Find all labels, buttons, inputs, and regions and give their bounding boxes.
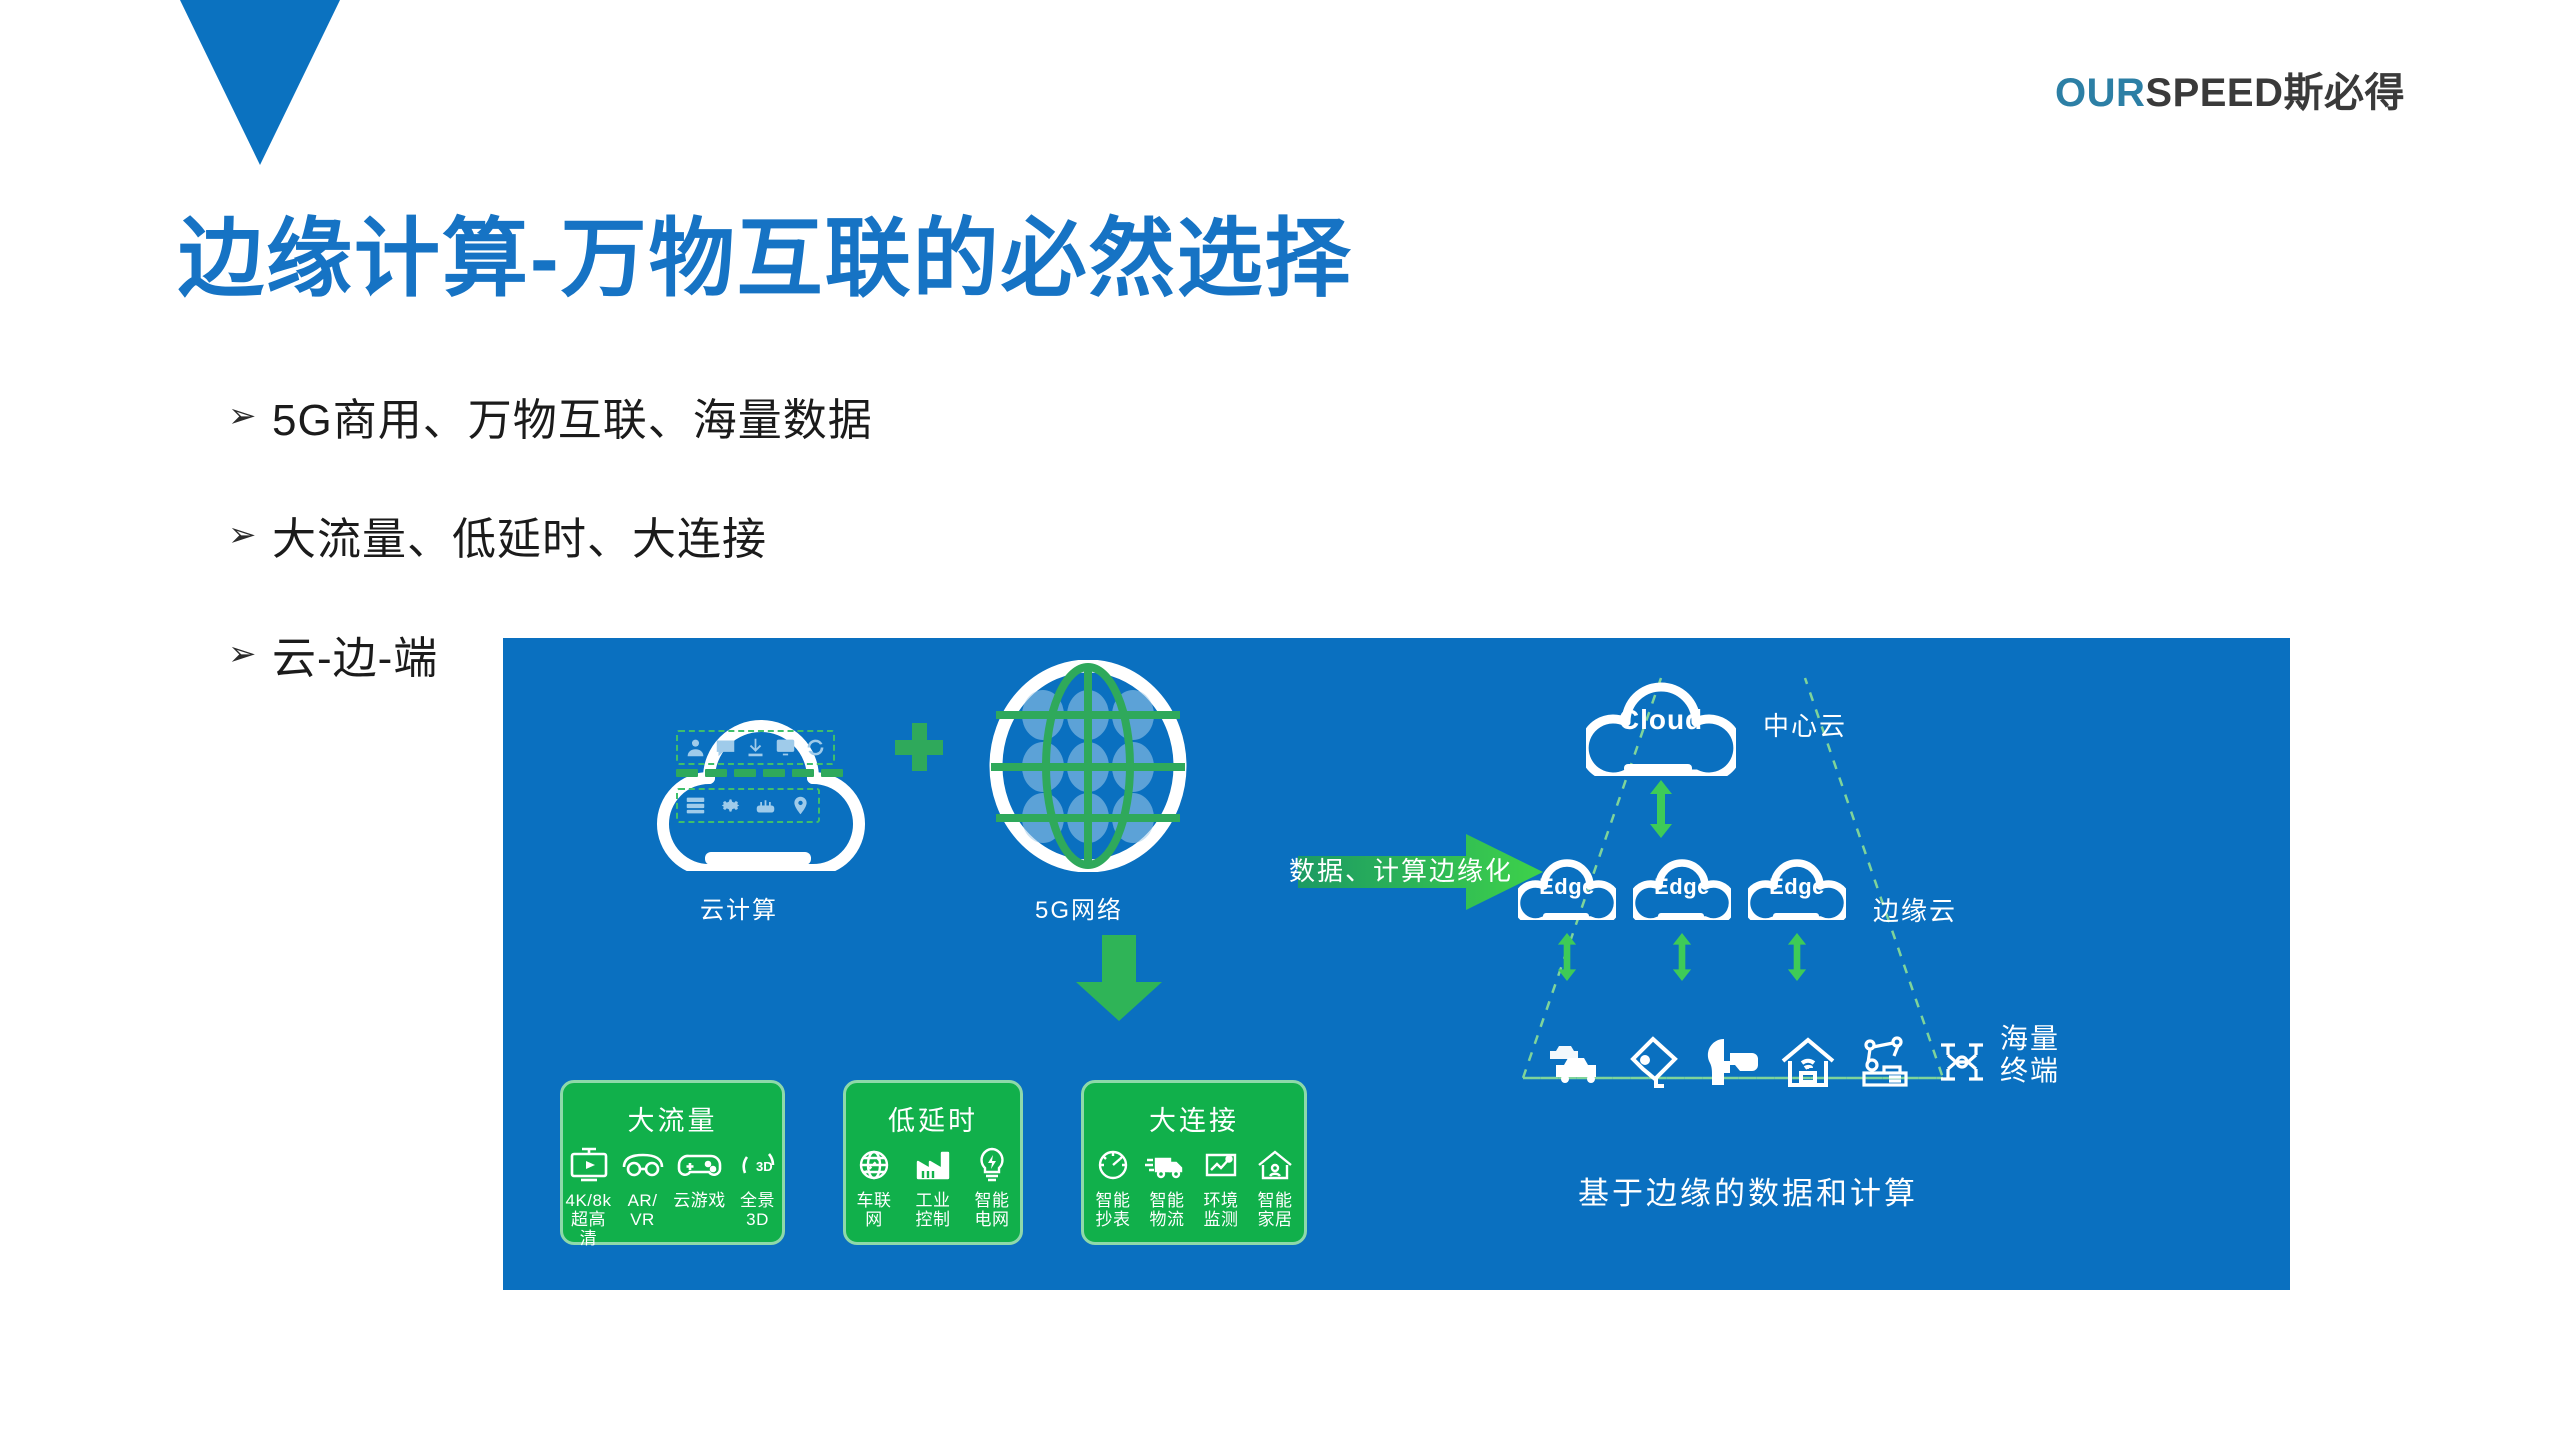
card-title: 大流量 xyxy=(563,1099,782,1138)
card-item: 智能 物流 xyxy=(1142,1145,1192,1229)
gamepad-icon xyxy=(677,1145,723,1185)
logo-rest-text: SPEED斯必得 xyxy=(2145,71,2405,115)
corner-triangle-decoration xyxy=(180,0,340,165)
svg-text:3D: 3D xyxy=(756,1159,773,1174)
down-arrow-icon xyxy=(1076,935,1162,1021)
router-icon xyxy=(755,795,776,816)
cloud-computing-label: 云计算 xyxy=(700,890,778,925)
central-cloud-node: Cloud xyxy=(1586,660,1736,776)
card-item-label: 云游戏 xyxy=(672,1191,728,1210)
meter-icon xyxy=(1090,1145,1136,1185)
bullet-text: 5G商用、万物互联、海量数据 xyxy=(272,384,873,448)
terminal-icon-cars xyxy=(1546,1033,1608,1091)
truck-icon xyxy=(1144,1145,1190,1185)
chat-icon xyxy=(715,737,736,758)
edge-node-text: Edge xyxy=(1748,874,1846,900)
card-item: 工业 控制 xyxy=(908,1145,958,1229)
card-item: 环境 监测 xyxy=(1196,1145,1246,1229)
card-item-label: 4K/8k 超高清 xyxy=(564,1191,614,1248)
vr-glasses-icon xyxy=(620,1145,666,1185)
card-items: 车联网 工业 控制 智能 电网 xyxy=(846,1145,1020,1229)
card-item-label: 全景 3D xyxy=(734,1191,782,1229)
card-item-label: 工业 控制 xyxy=(908,1191,958,1229)
cloud-service-icons-row-2 xyxy=(676,788,820,823)
card-item: 智能 电网 xyxy=(967,1145,1017,1229)
gear-icon xyxy=(720,795,741,816)
terminal-icon-drone xyxy=(1931,1033,1993,1091)
card-item-label: AR/ VR xyxy=(620,1191,666,1229)
terminal-icon-robot-arm xyxy=(1854,1033,1916,1091)
brand-logo: OURSPEED斯必得 xyxy=(2055,60,2405,118)
edge-node-1: Edge xyxy=(1518,844,1616,920)
edge-node-2: Edge xyxy=(1633,844,1731,920)
card-title: 低延时 xyxy=(846,1099,1020,1138)
connected-car-icon xyxy=(851,1145,897,1185)
panorama-3d-icon: 3D xyxy=(735,1145,781,1185)
diagram-footnote: 基于边缘的数据和计算 xyxy=(1498,1168,1998,1213)
location-pin-icon xyxy=(790,795,811,816)
list-item: ➢ 大流量、低延时、大连接 xyxy=(228,504,873,566)
card-item-label: 车联网 xyxy=(849,1191,899,1229)
terminal-label: 海量 终端 xyxy=(2000,1023,2060,1087)
5g-network-globe-icon xyxy=(983,660,1193,872)
5g-network-label: 5G网络 xyxy=(1035,890,1123,925)
edge-node-text: Edge xyxy=(1633,874,1731,900)
monitor-chart-icon xyxy=(1198,1145,1244,1185)
card-item-label: 智能 物流 xyxy=(1142,1191,1192,1229)
factory-icon xyxy=(910,1145,956,1185)
central-cloud-label: 中心云 xyxy=(1763,706,1847,743)
edge-terminal-link-arrow-3 xyxy=(1784,933,1810,981)
server-icon xyxy=(685,795,706,816)
edge-migration-label: 数据、计算边缘化 xyxy=(1289,851,1513,888)
feature-card-low-latency: 低延时 车联网 工业 控制 智能 xyxy=(843,1080,1023,1245)
card-item: 云游戏 xyxy=(672,1145,728,1248)
smart-grid-icon xyxy=(969,1145,1015,1185)
card-item-label: 智能 家居 xyxy=(1250,1191,1300,1229)
card-item-label: 智能 抄表 xyxy=(1088,1191,1138,1229)
card-item: 智能 抄表 xyxy=(1088,1145,1138,1229)
edge-node-text: Edge xyxy=(1518,874,1616,900)
cloud-edge-link-arrow-icon xyxy=(1648,780,1674,838)
card-item: 4K/8k 超高清 xyxy=(564,1145,614,1248)
card-item: 车联网 xyxy=(849,1145,899,1229)
cloud-divider-dashes xyxy=(676,769,843,777)
tv-icon xyxy=(566,1145,612,1185)
card-item: 3D 全景 3D xyxy=(734,1145,782,1248)
feature-card-massive-connection: 大连接 智能 抄表 智能 物流 环境 监测 xyxy=(1081,1080,1307,1245)
cloud-service-icons-row-1 xyxy=(676,730,835,765)
download-icon xyxy=(745,737,766,758)
monitor-icon xyxy=(775,737,796,758)
plus-icon xyxy=(895,723,943,771)
card-items: 智能 抄表 智能 物流 环境 监测 智能 家居 xyxy=(1084,1145,1304,1229)
bullet-arrow-icon: ➢ xyxy=(228,518,272,552)
list-item: ➢ 5G商用、万物互联、海量数据 xyxy=(228,385,873,447)
central-cloud-text: Cloud xyxy=(1586,704,1736,736)
bullet-arrow-icon: ➢ xyxy=(228,637,272,671)
bullet-arrow-icon: ➢ xyxy=(228,399,272,433)
logo-accent-text: OUR xyxy=(2055,71,2145,115)
bullet-text: 大流量、低延时、大连接 xyxy=(272,503,767,567)
card-item-label: 智能 电网 xyxy=(967,1191,1017,1229)
card-item: AR/ VR xyxy=(620,1145,666,1248)
edge-cloud-label: 边缘云 xyxy=(1873,891,1957,928)
smart-home-icon xyxy=(1252,1145,1298,1185)
card-item: 智能 家居 xyxy=(1250,1145,1300,1229)
bullet-text: 云-边-端 xyxy=(272,622,438,686)
edge-terminal-link-arrow-2 xyxy=(1669,933,1695,981)
card-item-label: 环境 监测 xyxy=(1196,1191,1246,1229)
edge-computing-diagram: 云计算 5G网络 数据、 xyxy=(503,638,2290,1290)
sync-icon xyxy=(805,737,826,758)
terminal-icon-surveillance-camera xyxy=(1623,1033,1685,1091)
user-icon xyxy=(685,737,706,758)
page-title: 边缘计算-万物互联的必然选择 xyxy=(178,188,1353,313)
edge-node-3: Edge xyxy=(1748,844,1846,920)
card-title: 大连接 xyxy=(1084,1099,1304,1138)
terminal-icon-smart-home xyxy=(1777,1033,1839,1091)
terminal-icon-vr-headset xyxy=(1700,1033,1762,1091)
edge-terminal-link-arrow-1 xyxy=(1554,933,1580,981)
card-items: 4K/8k 超高清 AR/ VR 云游戏 3D 全景 xyxy=(563,1145,782,1248)
feature-card-big-traffic: 大流量 4K/8k 超高清 AR/ VR 云游戏 xyxy=(560,1080,785,1245)
